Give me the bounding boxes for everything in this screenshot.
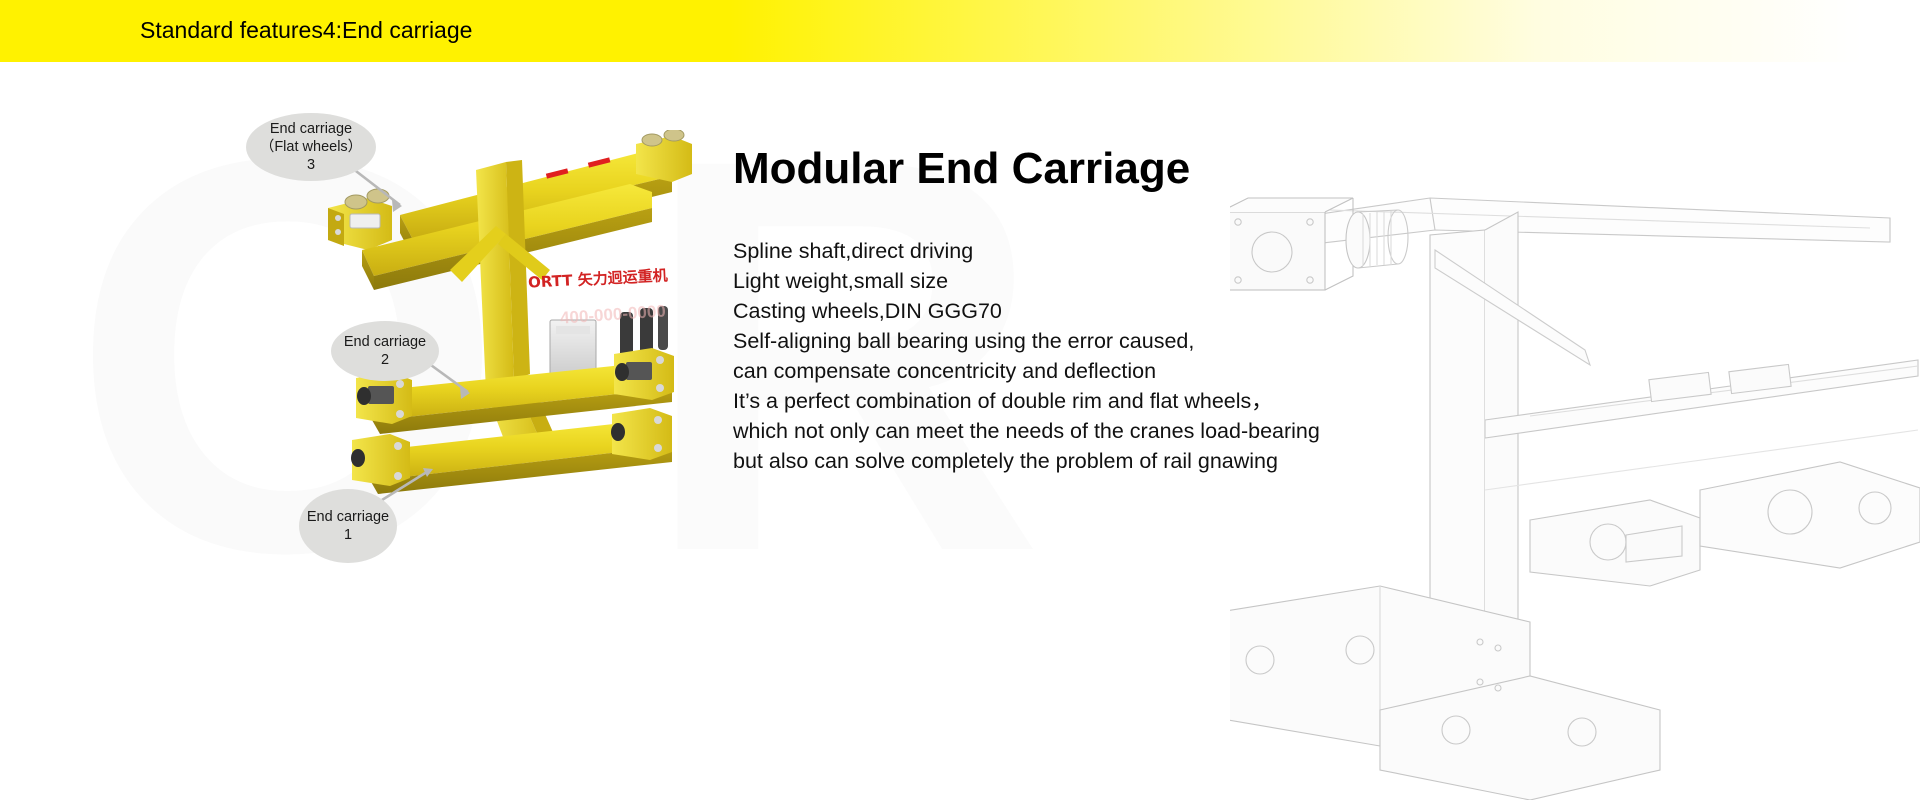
feature-line-5: can compensate concentricity and deflect…: [733, 356, 1320, 386]
feature-line-6: It’s a perfect combination of double rim…: [733, 386, 1320, 416]
callout-end-carriage-1[interactable]: End carriage 1: [299, 489, 397, 563]
feature-line-1: Spline shaft,direct driving: [733, 236, 1320, 266]
callout-3-line-1: End carriage: [270, 120, 352, 138]
callout-2-line-1: End carriage: [344, 333, 426, 351]
feature-line-4: Self-aligning ball bearing using the err…: [733, 326, 1320, 356]
callout-3-number: 3: [307, 156, 315, 174]
feature-line-8: but also can solve completely the proble…: [733, 446, 1320, 476]
feature-line-2: Light weight,small size: [733, 266, 1320, 296]
banner-title: Standard features4:End carriage: [140, 17, 472, 44]
feature-line-7: which not only can meet the needs of the…: [733, 416, 1320, 446]
feature-line-3: Casting wheels,DIN GGG70: [733, 296, 1320, 326]
callout-3-line-2: （Flat wheels）: [260, 138, 362, 156]
callout-end-carriage-3[interactable]: End carriage （Flat wheels） 3: [246, 113, 376, 181]
callout-end-carriage-2[interactable]: End carriage 2: [331, 321, 439, 381]
callout-1-number: 1: [344, 526, 352, 544]
feature-list: Spline shaft,direct driving Light weight…: [733, 236, 1320, 476]
header-banner: Standard features4:End carriage: [0, 0, 1920, 62]
slide-root: O R: [0, 0, 1920, 800]
callout-2-number: 2: [381, 351, 389, 369]
callout-1-line-1: End carriage: [307, 508, 389, 526]
page-title: Modular End Carriage: [733, 144, 1190, 194]
cad-line-drawing: [1230, 190, 1920, 800]
